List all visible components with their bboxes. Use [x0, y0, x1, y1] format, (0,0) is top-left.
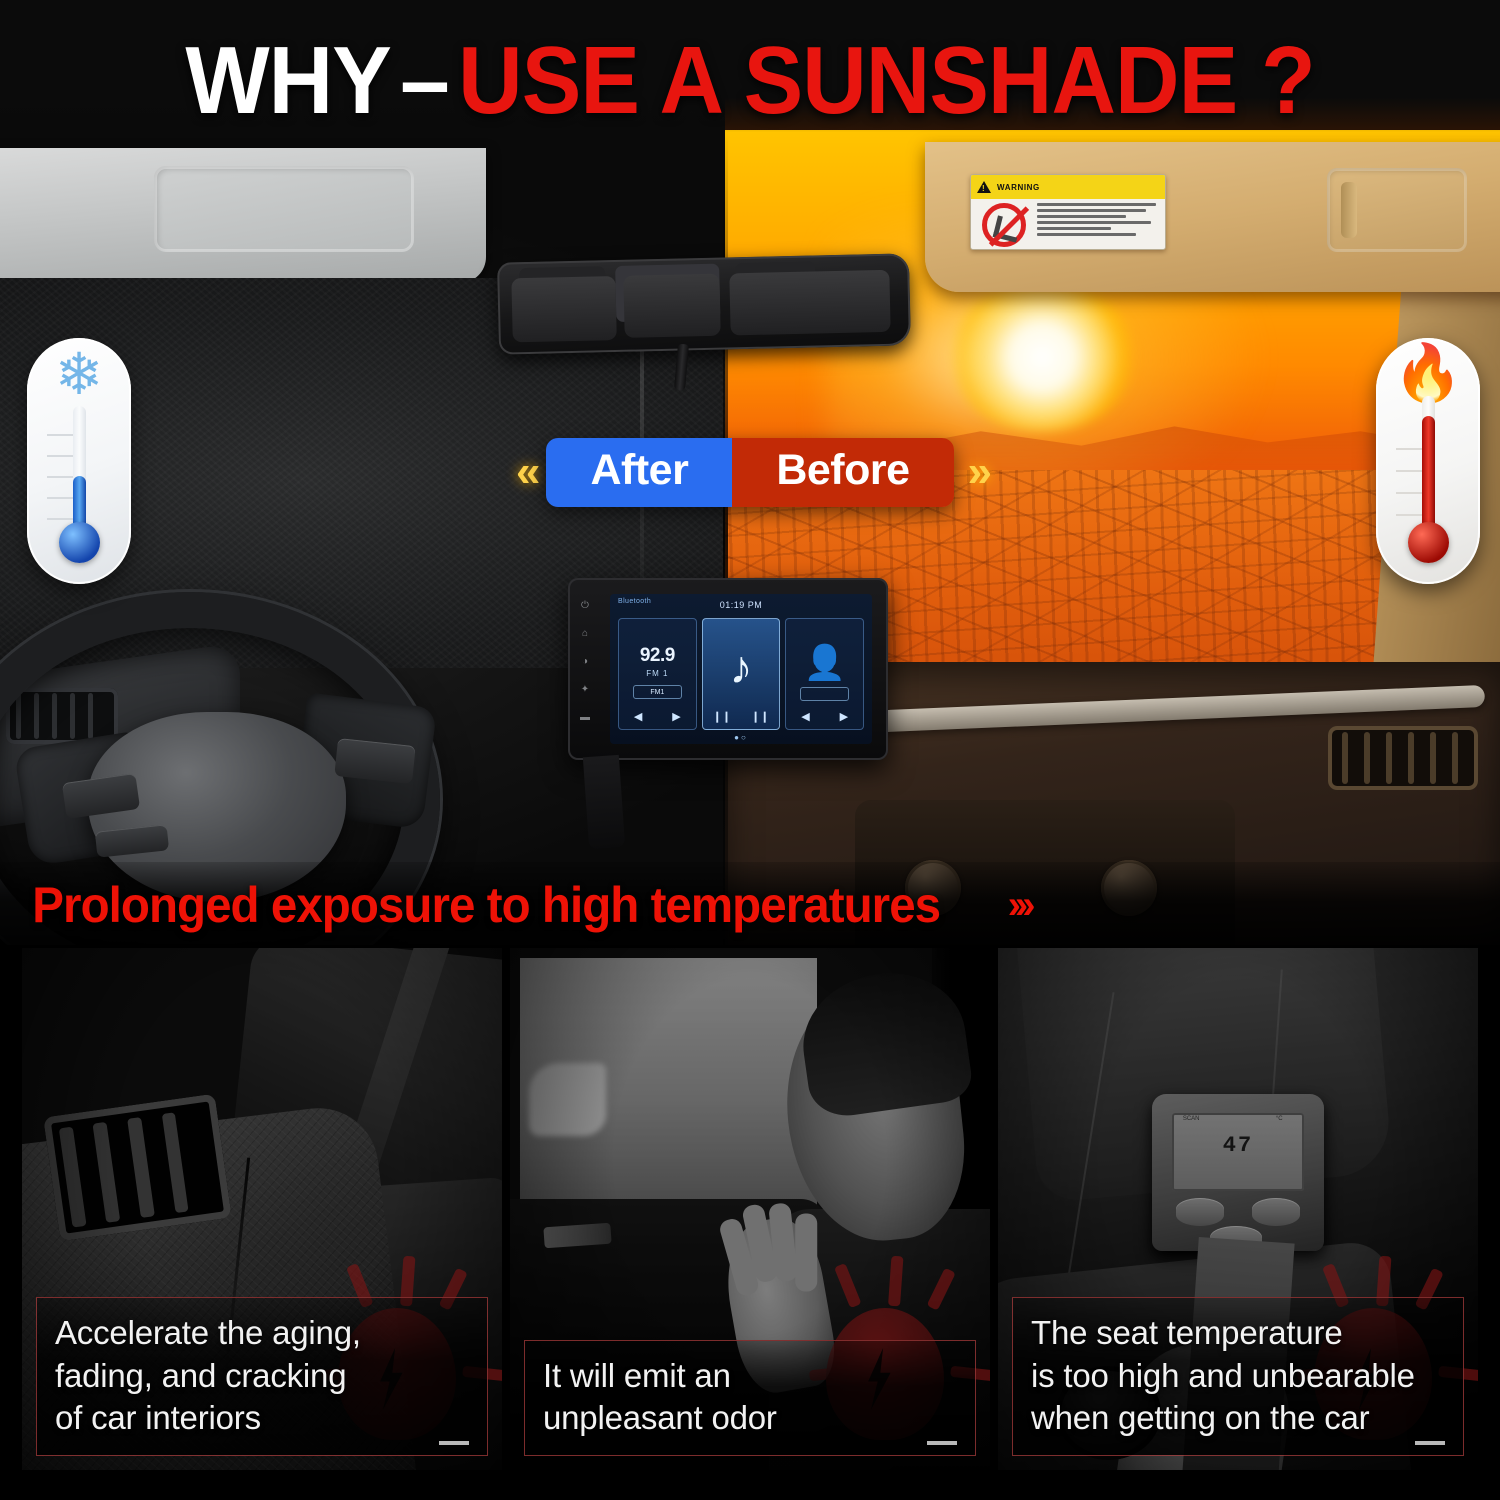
panel-caption-line: The seat temperature [1031, 1312, 1445, 1354]
head-unit-tiles: 92.9 FM 1 FM1 ◀ ▶ ♪ ❙❙ ❙❙ [618, 618, 864, 730]
warning-label-header: WARNING [971, 175, 1165, 199]
before-after-hero: WARNING [0, 0, 1500, 945]
mirror-seat-left [511, 276, 616, 342]
home-button-icon[interactable]: ⌂ [582, 628, 588, 639]
visor-mirror-panel-right [1327, 168, 1467, 252]
phone-tile[interactable]: 👤 ◀ ▶ [785, 618, 864, 730]
panel-caption-line: of car interiors [55, 1397, 469, 1439]
prohibition-circle [982, 203, 1026, 247]
person-icon: 👤 [786, 641, 863, 685]
sun-visor-right: WARNING [925, 142, 1500, 292]
head-unit-side-buttons[interactable]: ⏻ ⌂ ◑ ✦ ▬ [580, 600, 590, 723]
plus-button-icon[interactable]: ✦ [581, 684, 589, 695]
before-after-pill[interactable]: After Before [546, 438, 953, 507]
radio-band: FM 1 [619, 669, 696, 678]
warning-label-body [971, 199, 1165, 250]
media-prev-icon[interactable]: ❙❙ [713, 710, 731, 723]
panel-caption-box: Accelerate the aging, fading, and cracki… [36, 1297, 488, 1456]
panel-seat-temp: SCAN °C 47 [998, 948, 1478, 1470]
head-unit-mount-stand [583, 755, 625, 849]
caption-underscore [1415, 1441, 1445, 1445]
subhead-arrows-icon: ››› [1008, 883, 1030, 928]
phone-next-icon[interactable]: ▶ [840, 710, 848, 723]
split-seam [723, 130, 728, 945]
panel-caption-box: The seat temperature is too high and unb… [1012, 1297, 1464, 1456]
sunshade-infographic-poster: WARNING [0, 0, 1500, 1500]
panel-caption-line: It will emit an [543, 1355, 957, 1397]
caption-underscore [927, 1441, 957, 1445]
warning-label-text-lines [1037, 199, 1165, 250]
minus-button-icon[interactable]: ▬ [580, 712, 590, 723]
before-badge[interactable]: Before [732, 438, 953, 507]
right-air-vent-icon [1328, 726, 1478, 790]
radio-frequency: 92.9 [619, 645, 696, 667]
radio-seek-controls[interactable]: ◀ ▶ [619, 710, 696, 723]
sun-icon [947, 282, 1137, 432]
headline-dash: – [391, 27, 458, 134]
panel-caption-line: Accelerate the aging, [55, 1312, 469, 1354]
airbag-warning-label: WARNING [970, 174, 1166, 250]
panel-odor: It will emit an unpleasant odor [510, 948, 990, 1470]
radio-prev-icon[interactable]: ◀ [634, 710, 642, 723]
radio-preset-chip[interactable]: FM1 [633, 685, 682, 699]
caption-underscore [439, 1441, 469, 1445]
subhead-band: Prolonged exposure to high temperatures … [0, 862, 1500, 948]
chevron-right-icon: » [968, 450, 984, 494]
consequence-panels: Accelerate the aging, fading, and cracki… [0, 948, 1500, 1500]
warning-triangle-icon [977, 181, 991, 193]
volume-button-icon[interactable]: ◑ [582, 656, 588, 667]
subhead-text: Prolonged exposure to high temperatures [0, 876, 940, 934]
warning-label-title: WARNING [997, 183, 1040, 192]
media-tile[interactable]: ♪ ❙❙ ❙❙ [702, 618, 781, 730]
phone-nav-controls[interactable]: ◀ ▶ [786, 710, 863, 723]
sun-visor-left [0, 148, 486, 283]
media-transport-controls[interactable]: ❙❙ ❙❙ [703, 710, 780, 723]
panel-caption-line: unpleasant odor [543, 1397, 957, 1439]
head-unit-clock: 01:19 PM [720, 600, 763, 610]
after-badge[interactable]: After [546, 438, 732, 507]
steering-button-cluster-right [334, 738, 416, 784]
no-child-seat-icon [971, 199, 1037, 250]
panel-caption-line: is too high and unbearable [1031, 1355, 1445, 1397]
chevron-left-icon: « [516, 450, 532, 494]
thermometer-bulb-hot [1408, 522, 1449, 563]
head-unit-statusbar: 01:19 PM [610, 596, 872, 614]
panel-caption-line: fading, and cracking [55, 1355, 469, 1397]
before-after-toggle[interactable]: « After Before » [0, 434, 1500, 510]
thermometer-bulb-cold [59, 522, 100, 563]
music-note-icon: ♪ [703, 639, 780, 695]
panel-caption-line: when getting on the car [1031, 1397, 1445, 1439]
headline-red-part: USE A SUNSHADE ? [458, 27, 1315, 134]
phone-chip[interactable] [800, 687, 849, 701]
visor-mirror-tab [182, 178, 206, 238]
infotainment-head-unit[interactable]: ⏻ ⌂ ◑ ✦ ▬ Bluetooth 01:19 PM 92.9 FM 1 F… [568, 578, 888, 760]
mirror-seat-right [729, 270, 890, 336]
panel-aging: Accelerate the aging, fading, and cracki… [22, 948, 502, 1470]
snowflake-icon: ❄ [27, 344, 131, 406]
page-indicator-dots[interactable]: ●○ [610, 733, 872, 742]
panel-caption-box: It will emit an unpleasant odor [524, 1340, 976, 1456]
child-seat-glyph [993, 215, 1022, 242]
power-button-icon[interactable]: ⏻ [581, 600, 589, 611]
media-next-icon[interactable]: ❙❙ [751, 710, 769, 723]
mirror-seat-center [623, 274, 720, 338]
headline-white-part: WHY [185, 27, 391, 134]
rearview-mirror [497, 253, 911, 354]
page-title: WHY–USE A SUNSHADE ? [53, 26, 1448, 136]
flame-icon: 🔥 [1376, 342, 1480, 404]
radio-next-icon[interactable]: ▶ [672, 710, 680, 723]
phone-prev-icon[interactable]: ◀ [801, 710, 809, 723]
radio-tile[interactable]: 92.9 FM 1 FM1 ◀ ▶ [618, 618, 697, 730]
head-unit-screen[interactable]: Bluetooth 01:19 PM 92.9 FM 1 FM1 ◀ ▶ [610, 594, 872, 744]
